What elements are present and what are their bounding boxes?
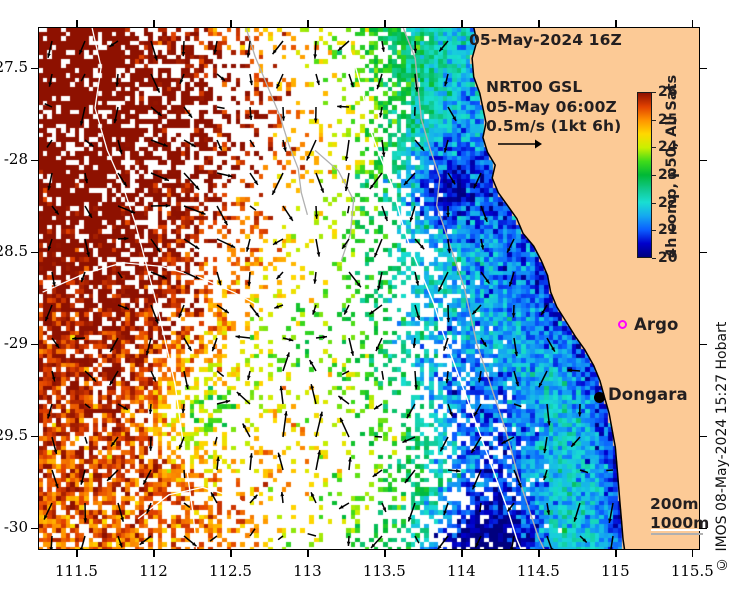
x-tick-top — [461, 20, 462, 27]
x-tick-label: 112.5 — [190, 562, 270, 580]
depth-contour-legend: 200m 1000m — [650, 495, 709, 533]
x-tick — [76, 550, 77, 557]
x-tick-top — [153, 20, 154, 27]
y-tick-label: -28.5 — [0, 242, 28, 260]
y-tick-right — [700, 160, 707, 161]
colorbar-tick — [652, 120, 656, 121]
y-tick-label: -28 — [0, 150, 28, 168]
vector-legend-line2: 05-May 06:00Z — [486, 98, 621, 118]
y-tick-label: -29.5 — [0, 426, 28, 444]
colorbar-gradient — [637, 92, 652, 258]
x-tick-top — [230, 20, 231, 27]
y-tick-right — [700, 436, 707, 437]
colorbar-tick — [652, 92, 656, 93]
y-tick — [31, 252, 38, 253]
dongara-label: Dongara — [608, 385, 688, 404]
colorbar-tick — [652, 203, 656, 204]
vector-legend-line1: NRT00 GSL — [486, 78, 621, 98]
colorbar-tick — [652, 230, 656, 231]
x-tick — [692, 550, 693, 557]
dongara-marker-icon[interactable] — [594, 392, 605, 403]
title-date: 05-May-2024 16Z — [469, 31, 622, 49]
y-tick — [31, 436, 38, 437]
y-tick-label: -30 — [0, 518, 28, 536]
x-tick — [461, 550, 462, 557]
right-arrow-icon — [497, 137, 543, 151]
x-tick — [153, 550, 154, 557]
depth-1000-swatch — [651, 533, 703, 535]
x-tick-top — [307, 20, 308, 27]
colorbar-title: 4h comp, p50, All Sats — [664, 92, 680, 258]
vector-legend-text: NRT00 GSL 05-May 06:00Z 0.5m/s (1kt 6h) — [486, 78, 621, 137]
y-tick-right — [700, 252, 707, 253]
credit-text: © IMOS 08-May-2024 15:27 Hobart — [714, 304, 730, 572]
y-tick-right — [700, 344, 707, 345]
y-tick — [31, 160, 38, 161]
y-tick — [31, 344, 38, 345]
colorbar-tick — [652, 147, 656, 148]
vector-legend-line3: 0.5m/s (1kt 6h) — [486, 117, 621, 137]
y-tick-label: -27.5 — [0, 58, 28, 76]
colorbar[interactable]: 20212223242526 — [637, 92, 652, 258]
x-tick-label: 115 — [575, 562, 655, 580]
x-tick-label: 113 — [267, 562, 347, 580]
y-tick-label: -29 — [0, 334, 28, 352]
y-tick — [31, 68, 38, 69]
x-tick — [230, 550, 231, 557]
depth-200-label: 200m — [650, 495, 709, 514]
x-tick — [307, 550, 308, 557]
x-tick-top — [76, 20, 77, 27]
x-tick-top — [384, 20, 385, 27]
y-tick — [31, 528, 38, 529]
argo-marker-icon[interactable] — [618, 320, 627, 329]
x-tick — [538, 550, 539, 557]
depth-200-swatch — [651, 529, 703, 531]
colorbar-tick — [652, 258, 656, 259]
sst-map-figure: 111.5112112.5113113.5114114.5115115.5 -2… — [0, 0, 740, 592]
x-tick — [384, 550, 385, 557]
x-tick-top — [692, 20, 693, 27]
x-tick-label: 113.5 — [344, 562, 424, 580]
x-tick-label: 114 — [421, 562, 501, 580]
x-tick-top — [615, 20, 616, 27]
x-tick-label: 114.5 — [498, 562, 578, 580]
x-tick — [615, 550, 616, 557]
argo-label: Argo — [634, 315, 678, 334]
x-tick-label: 111.5 — [36, 562, 116, 580]
y-tick-right — [700, 68, 707, 69]
colorbar-tick — [652, 175, 656, 176]
x-tick-label: 112 — [113, 562, 193, 580]
x-tick-top — [538, 20, 539, 27]
